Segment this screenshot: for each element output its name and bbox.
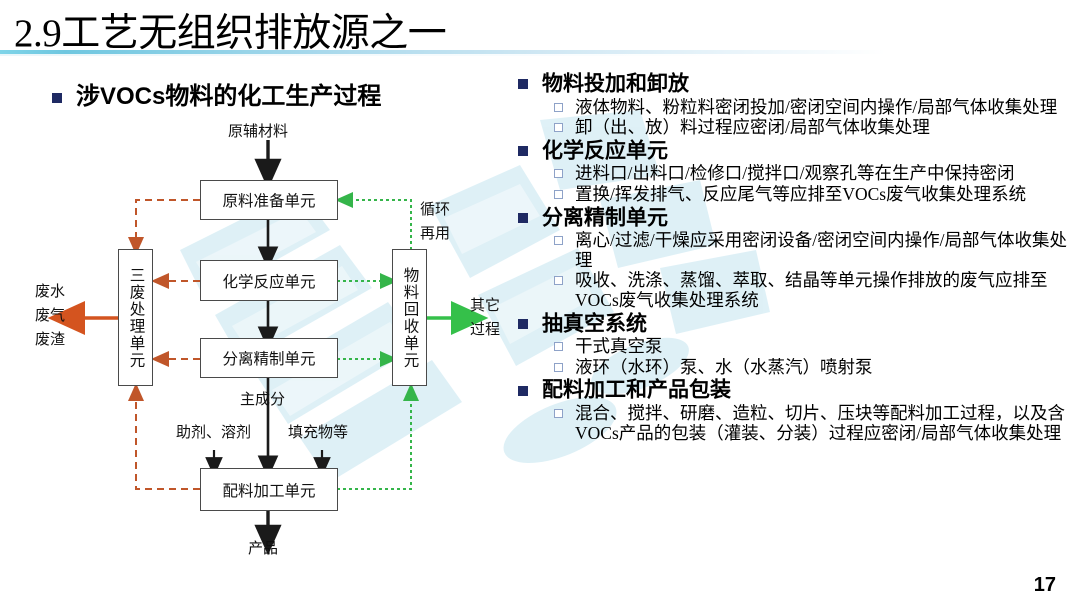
bullet-item: 液体物料、粉粒料密闭投加/密闭空间内操作/局部气体收集处理 [554,98,1070,118]
page-title: 2.9工艺无组织排放源之一 [14,2,446,58]
square-bullet-icon [518,146,528,156]
diagram-label-main-component: 主成分 [240,392,285,410]
hollow-square-bullet-icon [554,409,563,418]
diagram-label-waste-water: 废水 [35,284,65,302]
bullet-heading-3: 分离精制单元 [518,206,1070,231]
diagram-box-material-recovery: 物料回收单元 [392,249,427,386]
hollow-square-bullet-icon [554,103,563,112]
diagram-label-recycle-1: 循环 [420,202,450,220]
hollow-square-bullet-icon [554,236,563,245]
diagram-label-waste-residue: 废渣 [35,332,65,350]
bullet-item: 吸收、洗涤、蒸馏、萃取、结晶等单元操作排放的废气应排至VOCs废气收集处理系统 [554,271,1070,310]
diagram-label-recycle-2: 再用 [420,226,450,244]
diagram-label-waste-gas: 废气 [35,308,65,326]
hollow-square-bullet-icon [554,169,563,178]
diagram-label-other-2: 过程 [470,322,500,340]
hollow-square-bullet-icon [554,276,563,285]
diagram-label-other-1: 其它 [470,298,500,316]
square-bullet-icon [518,79,528,89]
left-section-heading: 涉VOCs物料的化工生产过程 [52,76,381,111]
right-bullet-column: 物料投加和卸放 液体物料、粉粒料密闭投加/密闭空间内操作/局部气体收集处理 卸（… [518,72,1070,444]
bullet-item: 离心/过滤/干燥应采用密闭设备/密闭空间内操作/局部气体收集处理 [554,231,1070,270]
bullet-heading-2: 化学反应单元 [518,139,1070,164]
bullet-heading-4: 抽真空系统 [518,312,1070,337]
diagram-label-product: 产品 [248,541,278,559]
square-bullet-icon [518,213,528,223]
square-bullet-icon [518,386,528,396]
page-number: 17 [1034,574,1056,597]
bullet-item: 进料口/出料口/检修口/搅拌口/观察孔等在生产中保持密闭 [554,164,1070,184]
diagram-label-fillers: 填充物等 [288,425,348,443]
bullet-item: 液环（水环）泵、水（水蒸汽）喷射泵 [554,358,1070,378]
bullet-item: 干式真空泵 [554,337,1070,357]
hollow-square-bullet-icon [554,190,563,199]
bullet-heading-5: 配料加工和产品包装 [518,378,1070,403]
hollow-square-bullet-icon [554,123,563,132]
bullet-item: 卸（出、放）料过程应密闭/局部气体收集处理 [554,118,1070,138]
diagram-label-feedstock: 原辅材料 [228,124,288,142]
left-heading-label: 涉VOCs物料的化工生产过程 [76,83,381,110]
diagram-box-blending-processing: 配料加工单元 [200,468,338,511]
diagram-box-waste-treatment: 三废处理单元 [118,249,153,386]
hollow-square-bullet-icon [554,363,563,372]
diagram-box-raw-material-prep: 原料准备单元 [200,180,338,220]
square-bullet-icon [518,319,528,329]
diagram-box-chemical-reaction: 化学反应单元 [200,260,338,301]
hollow-square-bullet-icon [554,342,563,351]
square-bullet-icon [52,93,62,103]
bullet-heading-1: 物料投加和卸放 [518,72,1070,97]
diagram-label-additives: 助剂、溶剂 [176,425,251,443]
bullet-item: 置换/挥发排气、反应尾气等应排至VOCs废气收集处理系统 [554,185,1070,205]
diagram-box-separation-refining: 分离精制单元 [200,338,338,378]
bullet-item: 混合、搅拌、研磨、造粒、切片、压块等配料加工过程，以及含VOCs产品的包装（灌装… [554,404,1070,443]
